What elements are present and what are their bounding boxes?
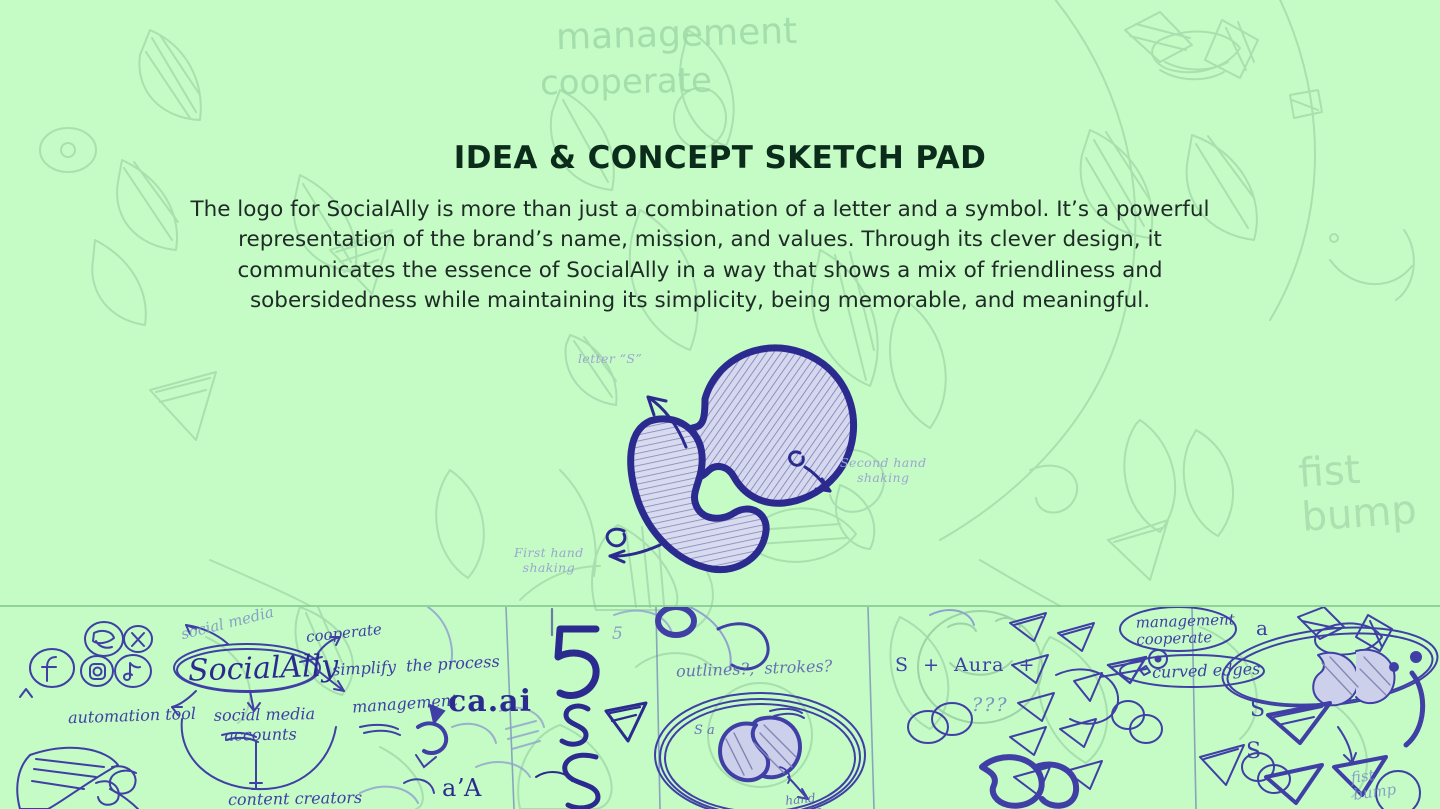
strip-note-s-o: S xyxy=(1246,739,1261,764)
logo-sketch-stage: letter “S” Second hand shaking First han… xyxy=(500,335,970,610)
strip-note-five-faint: 5 xyxy=(612,625,623,645)
annotation-first-hand-shaking: First hand shaking xyxy=(514,545,584,575)
strip-note-glyph-a: aʼA xyxy=(442,775,481,803)
sketch-pad-page: management cooperate fist bump IDEA & CO… xyxy=(0,0,1440,809)
strip-note-management-cooperate: management cooperate xyxy=(1135,611,1235,648)
strip-note-hand-shake: hand shake xyxy=(785,791,823,809)
annotation-second-hand-shaking: Second hand shaking xyxy=(840,455,926,485)
strip-note-s-a: S a xyxy=(694,724,715,739)
strip-note-ca-ai: ca.ai xyxy=(448,685,532,720)
strip-note-content-creators: content creators xyxy=(228,789,362,809)
sketch-strip: social media SocialAlly cooperate simpli… xyxy=(0,607,1440,809)
strip-note-social-media-accounts: social media accounts xyxy=(214,704,316,746)
top-panel: IDEA & CONCEPT SKETCH PAD The logo for S… xyxy=(0,0,1440,606)
annotation-letter-s: letter “S” xyxy=(578,351,642,366)
strip-note-fist-bump: fist bump xyxy=(1350,764,1397,804)
strip-note-s-right: S xyxy=(1250,697,1265,722)
strip-note-question-marks: ??? xyxy=(972,695,1009,717)
page-title: IDEA & CONCEPT SKETCH PAD xyxy=(0,140,1440,176)
strip-note-a-right: a xyxy=(1256,617,1268,640)
strip-note-curved-edges: curved edges xyxy=(1152,660,1261,682)
strip-note-s-plus-aura: S + Aura + xyxy=(895,655,1035,677)
strip-note-brand: SocialAlly xyxy=(187,649,338,689)
page-description: The logo for SocialAlly is more than jus… xyxy=(190,195,1210,317)
